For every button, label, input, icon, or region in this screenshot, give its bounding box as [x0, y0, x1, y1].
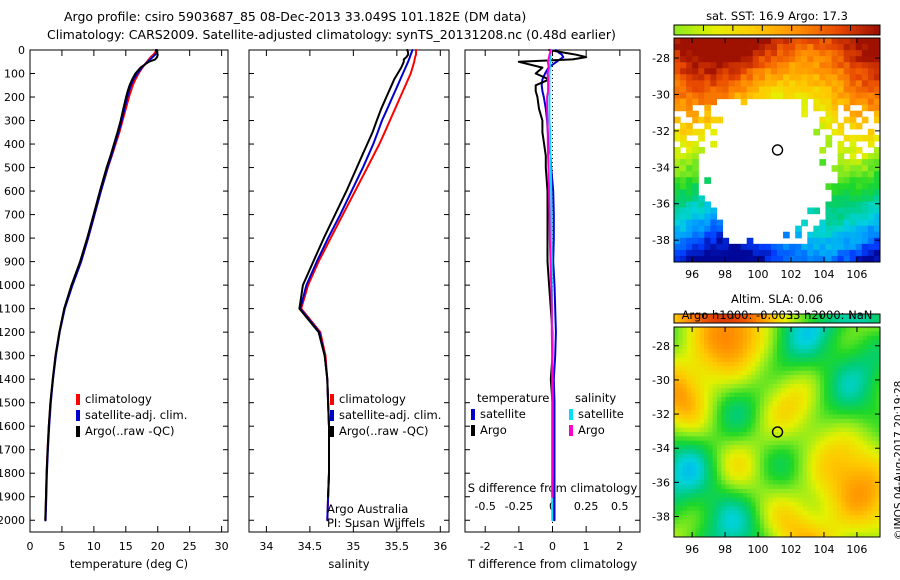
- sla-cell: [811, 397, 816, 402]
- sla-cell: [777, 467, 782, 472]
- sst-float-marker[interactable]: [773, 145, 783, 155]
- sla-cell: [781, 520, 786, 525]
- sst-cell: [844, 147, 851, 154]
- sst-cell: [825, 62, 832, 69]
- sst-cell: [741, 38, 748, 45]
- sla-cell: [841, 502, 846, 507]
- sla-cell: [811, 340, 816, 345]
- sla-cell: [781, 345, 786, 350]
- sla-cell: [773, 450, 778, 455]
- sst-cell: [862, 171, 869, 178]
- sla-cell: [704, 419, 709, 424]
- sst-cell: [844, 62, 851, 69]
- sla-cell: [863, 393, 868, 398]
- sla-cell: [803, 471, 808, 476]
- sla-cell: [798, 502, 803, 507]
- sst-cell: [856, 250, 863, 257]
- sla-cell: [794, 489, 799, 494]
- sla-cell: [786, 520, 791, 525]
- sla-cell: [683, 471, 688, 476]
- sla-cell: [751, 511, 756, 516]
- sst-cell: [692, 38, 699, 45]
- sla-cell: [683, 336, 688, 341]
- sla-cell: [734, 524, 739, 529]
- sla-cell: [764, 506, 769, 511]
- sst-cell: [801, 111, 808, 118]
- sst-cell: [759, 244, 766, 251]
- sst-cell: [674, 220, 681, 227]
- sla-cell: [816, 480, 821, 485]
- sst-cell: [789, 250, 796, 257]
- sst-cell: [674, 165, 681, 172]
- sst-cell: [710, 56, 717, 63]
- sst-cell: [686, 86, 693, 93]
- sla-cell: [678, 358, 683, 363]
- sla-cell: [674, 366, 679, 371]
- sla-cell: [695, 384, 700, 389]
- sla-cell: [721, 393, 726, 398]
- sla-cell: [764, 393, 769, 398]
- sla-cell: [794, 393, 799, 398]
- sla-cell: [833, 445, 838, 450]
- sla-cell: [794, 458, 799, 463]
- sst-cell: [832, 105, 839, 112]
- sla-cell: [803, 511, 808, 516]
- sla-cell: [713, 515, 718, 520]
- sla-cell: [829, 450, 834, 455]
- sla-cell: [777, 366, 782, 371]
- sla-cell: [867, 506, 872, 511]
- sst-cell: [698, 62, 705, 69]
- sst-colorbar-cell: [712, 25, 716, 35]
- sla-cell: [820, 441, 825, 446]
- sla-cell: [717, 493, 722, 498]
- sst-cell: [777, 56, 784, 63]
- sla-cell: [730, 380, 735, 385]
- sla-cell: [768, 358, 773, 363]
- sla-cell: [695, 423, 700, 428]
- sla-cell: [867, 428, 872, 433]
- sst-cell: [722, 68, 729, 75]
- sla-cell: [859, 489, 864, 494]
- sla-cell: [854, 340, 859, 345]
- sla-cell: [730, 397, 735, 402]
- sst-cell: [692, 171, 699, 178]
- sla-cell: [738, 388, 743, 393]
- sst-cell: [825, 201, 832, 208]
- map-x-tick-label: 106: [846, 543, 867, 556]
- sla-cell: [713, 458, 718, 463]
- sla-cell: [786, 406, 791, 411]
- sla-cell: [700, 524, 705, 529]
- sla-cell: [820, 401, 825, 406]
- sla-cell: [760, 441, 765, 446]
- sla-cell: [687, 401, 692, 406]
- sla-cell: [833, 471, 838, 476]
- sla-cell: [841, 358, 846, 363]
- sla-cell: [854, 502, 859, 507]
- sla-cell: [790, 401, 795, 406]
- sla-cell: [773, 384, 778, 389]
- sla-cell: [743, 366, 748, 371]
- sst-cell: [844, 38, 851, 45]
- sst-cell: [783, 80, 790, 87]
- sst-cell: [868, 159, 875, 166]
- sla-cell: [751, 454, 756, 459]
- sla-cell: [811, 406, 816, 411]
- sst-cell: [674, 92, 681, 99]
- sst-cell: [698, 68, 705, 75]
- sla-cell: [837, 506, 842, 511]
- sla-cell: [867, 463, 872, 468]
- sla-cell: [854, 428, 859, 433]
- sla-cell: [738, 371, 743, 376]
- sla-cell: [837, 358, 842, 363]
- sla-cell: [803, 524, 808, 529]
- sla-cell: [751, 384, 756, 389]
- sst-cell: [868, 68, 875, 75]
- sla-cell: [730, 384, 735, 389]
- sla-cell: [854, 467, 859, 472]
- sla-cell: [751, 419, 756, 424]
- sla-cell: [820, 340, 825, 345]
- sst-cell: [832, 56, 839, 63]
- sla-cell: [695, 406, 700, 411]
- sla-cell: [768, 476, 773, 481]
- sla-cell: [871, 432, 876, 437]
- sla-cell: [824, 362, 829, 367]
- sla-cell: [786, 506, 791, 511]
- sla-cell: [678, 467, 683, 472]
- sla-cell: [850, 331, 855, 336]
- sla-cell: [803, 349, 808, 354]
- sla-cell: [837, 463, 842, 468]
- sla-cell: [768, 450, 773, 455]
- sla-cell: [794, 511, 799, 516]
- sla-cell: [751, 498, 756, 503]
- sla-cell: [704, 528, 709, 533]
- sla-cell: [721, 366, 726, 371]
- sst-cell: [692, 226, 699, 233]
- sla-cell: [743, 445, 748, 450]
- sla-cell: [863, 340, 868, 345]
- sla-cell: [786, 397, 791, 402]
- sla-cell: [786, 441, 791, 446]
- sla-cell: [820, 397, 825, 402]
- sst-cell: [692, 141, 699, 148]
- sla-cell: [846, 384, 851, 389]
- sla-cell: [846, 410, 851, 415]
- sla-cell: [781, 480, 786, 485]
- sla-cell: [713, 375, 718, 380]
- sst-cell: [680, 123, 687, 130]
- sla-cell: [850, 498, 855, 503]
- sst-cell: [868, 129, 875, 136]
- sla-cell: [756, 366, 761, 371]
- sst-colorbar-cell: [804, 25, 808, 35]
- sla-cell: [781, 515, 786, 520]
- sla-cell: [695, 397, 700, 402]
- sst-cell: [868, 80, 875, 87]
- sst-cell: [777, 74, 784, 81]
- sla-cell: [700, 432, 705, 437]
- sla-cell: [687, 515, 692, 520]
- sla-cell: [846, 445, 851, 450]
- sla-cell: [674, 467, 679, 472]
- sla-cell: [798, 380, 803, 385]
- sst-cell: [868, 177, 875, 184]
- sst-cell: [692, 68, 699, 75]
- sst-cell: [686, 68, 693, 75]
- sla-cell: [756, 401, 761, 406]
- sst-cell: [795, 44, 802, 51]
- sla-cell: [695, 436, 700, 441]
- sla-cell: [760, 401, 765, 406]
- sla-cell: [704, 397, 709, 402]
- sla-cell: [850, 506, 855, 511]
- sla-cell: [777, 353, 782, 358]
- sla-cell: [859, 384, 864, 389]
- sla-cell: [871, 511, 876, 516]
- sla-cell: [730, 375, 735, 380]
- map-y-tick-label: -38: [652, 234, 670, 247]
- sst-cell: [686, 105, 693, 112]
- sst-cell: [680, 44, 687, 51]
- sst-cell: [735, 62, 742, 69]
- sst-cell: [819, 105, 826, 112]
- sst-cell: [704, 105, 711, 112]
- sla-cell: [764, 345, 769, 350]
- sla-cell: [726, 485, 731, 490]
- sla-cell: [790, 450, 795, 455]
- sla-cell: [773, 327, 778, 332]
- sla-cell: [743, 520, 748, 525]
- sla-cell: [738, 345, 743, 350]
- sla-cell: [790, 388, 795, 393]
- sst-cell: [674, 74, 681, 81]
- sla-cell: [846, 371, 851, 376]
- sla-cell: [691, 436, 696, 441]
- sla-cell: [751, 445, 756, 450]
- sla-cell: [687, 419, 692, 424]
- sst-cell: [698, 232, 705, 239]
- sla-cell: [773, 336, 778, 341]
- sla-cell: [833, 419, 838, 424]
- sst-cell: [795, 62, 802, 69]
- sst-cell: [838, 159, 845, 166]
- sst-cell: [825, 135, 832, 142]
- sla-cell: [790, 428, 795, 433]
- sst-cell: [710, 68, 717, 75]
- sla-cell: [708, 340, 713, 345]
- sla-cell: [824, 432, 829, 437]
- sla-cell: [726, 450, 731, 455]
- sla-cell: [738, 331, 743, 336]
- sla-cell: [863, 380, 868, 385]
- sst-cell: [735, 80, 742, 87]
- sla-cell: [833, 358, 838, 363]
- sla-cell: [816, 401, 821, 406]
- sla-cell: [717, 485, 722, 490]
- sla-cell: [863, 410, 868, 415]
- sla-cell: [717, 445, 722, 450]
- sla-cell: [798, 375, 803, 380]
- sla-cell: [760, 467, 765, 472]
- sla-cell: [756, 524, 761, 529]
- sla-cell: [820, 371, 825, 376]
- sst-cell: [680, 220, 687, 227]
- sla-cell: [773, 340, 778, 345]
- sst-cell: [819, 86, 826, 93]
- sla-cell: [734, 485, 739, 490]
- sla-cell: [829, 371, 834, 376]
- sla-cell: [798, 476, 803, 481]
- sla-cell: [768, 388, 773, 393]
- sst-cell: [856, 86, 863, 93]
- sla-cell: [794, 476, 799, 481]
- sla-cell: [734, 463, 739, 468]
- sst-cell: [771, 68, 778, 75]
- sla-cell: [738, 432, 743, 437]
- sla-cell: [841, 410, 846, 415]
- sla-cell: [756, 362, 761, 367]
- sla-cell: [807, 428, 812, 433]
- sla-cell: [859, 419, 864, 424]
- sla-cell: [760, 506, 765, 511]
- sst-cell: [844, 80, 851, 87]
- sst-cell: [741, 68, 748, 75]
- map-y-tick-label: -32: [652, 125, 670, 138]
- sst-cell: [844, 56, 851, 63]
- sla-cell: [833, 406, 838, 411]
- sla-cell: [726, 375, 731, 380]
- sla-cell: [730, 419, 735, 424]
- sla-cell: [721, 515, 726, 520]
- sla-cell: [738, 336, 743, 341]
- sla-cell: [674, 397, 679, 402]
- sla-cell: [751, 410, 756, 415]
- sla-cell: [704, 393, 709, 398]
- sla-cell: [768, 480, 773, 485]
- sla-cell: [756, 436, 761, 441]
- sla-cell: [678, 436, 683, 441]
- sst-cell: [783, 74, 790, 81]
- maps-panel[interactable]: 9698100102104106-28-30-32-34-36-38969810…: [0, 0, 900, 580]
- sla-cell: [734, 327, 739, 332]
- sst-cell: [862, 44, 869, 51]
- sla-cell: [751, 506, 756, 511]
- sla-cell: [768, 528, 773, 533]
- sla-cell: [829, 410, 834, 415]
- sla-cell: [756, 406, 761, 411]
- sst-cell: [680, 99, 687, 106]
- sla-cell: [850, 428, 855, 433]
- sla-cell: [683, 528, 688, 533]
- sla-cell: [781, 331, 786, 336]
- sst-cell: [747, 80, 754, 87]
- sla-cell: [751, 397, 756, 402]
- sst-cell: [832, 50, 839, 57]
- sst-cell: [850, 232, 857, 239]
- sla-cell: [734, 450, 739, 455]
- sla-cell: [691, 353, 696, 358]
- sla-cell: [768, 423, 773, 428]
- sla-cell: [854, 506, 859, 511]
- sst-cell: [856, 220, 863, 227]
- sla-cell: [760, 406, 765, 411]
- sla-cell: [730, 358, 735, 363]
- sla-cell: [867, 480, 872, 485]
- sst-cell: [747, 38, 754, 45]
- sla-cell: [803, 432, 808, 437]
- sla-cell: [687, 436, 692, 441]
- sla-cell: [790, 502, 795, 507]
- sla-cell: [777, 502, 782, 507]
- sst-cell: [674, 56, 681, 63]
- sla-cell: [816, 528, 821, 533]
- sla-cell: [833, 384, 838, 389]
- sla-cell: [756, 393, 761, 398]
- sla-cell: [721, 485, 726, 490]
- sla-cell: [867, 528, 872, 533]
- sst-cell: [807, 80, 814, 87]
- sla-cell: [756, 450, 761, 455]
- sst-cell: [698, 195, 705, 202]
- sla-cell: [837, 454, 842, 459]
- sla-cell: [777, 493, 782, 498]
- sla-cell: [798, 450, 803, 455]
- sst-cell: [692, 238, 699, 245]
- sla-cell: [700, 423, 705, 428]
- sla-cell: [730, 327, 735, 332]
- sla-cell: [794, 436, 799, 441]
- sla-cell: [811, 524, 816, 529]
- sla-cell: [700, 515, 705, 520]
- sla-cell: [850, 524, 855, 529]
- sla-cell: [687, 524, 692, 529]
- sla-cell: [803, 331, 808, 336]
- sla-cell: [824, 327, 829, 332]
- sst-cell: [710, 38, 717, 45]
- sla-cell: [833, 520, 838, 525]
- sst-colorbar-cell: [691, 25, 695, 35]
- sla-cell: [777, 454, 782, 459]
- sst-cell: [771, 80, 778, 87]
- sla-cell: [695, 441, 700, 446]
- sst-cell: [838, 62, 845, 69]
- sst-cell: [832, 250, 839, 257]
- sla-cell: [816, 489, 821, 494]
- sla-cell: [807, 450, 812, 455]
- sla-cell: [816, 506, 821, 511]
- sla-cell: [678, 388, 683, 393]
- sst-cell: [850, 220, 857, 227]
- sla-cell: [708, 336, 713, 341]
- sla-cell: [824, 336, 829, 341]
- sst-cell: [692, 56, 699, 63]
- sst-cell: [710, 244, 717, 251]
- sst-cell: [722, 44, 729, 51]
- sla-cell: [846, 432, 851, 437]
- sla-cell: [871, 362, 876, 367]
- sst-cell: [783, 92, 790, 99]
- sla-cell: [867, 515, 872, 520]
- sla-cell: [833, 524, 838, 529]
- sla-cell: [713, 415, 718, 420]
- sla-cell: [837, 406, 842, 411]
- sla-cell: [713, 485, 718, 490]
- sst-cell: [868, 92, 875, 99]
